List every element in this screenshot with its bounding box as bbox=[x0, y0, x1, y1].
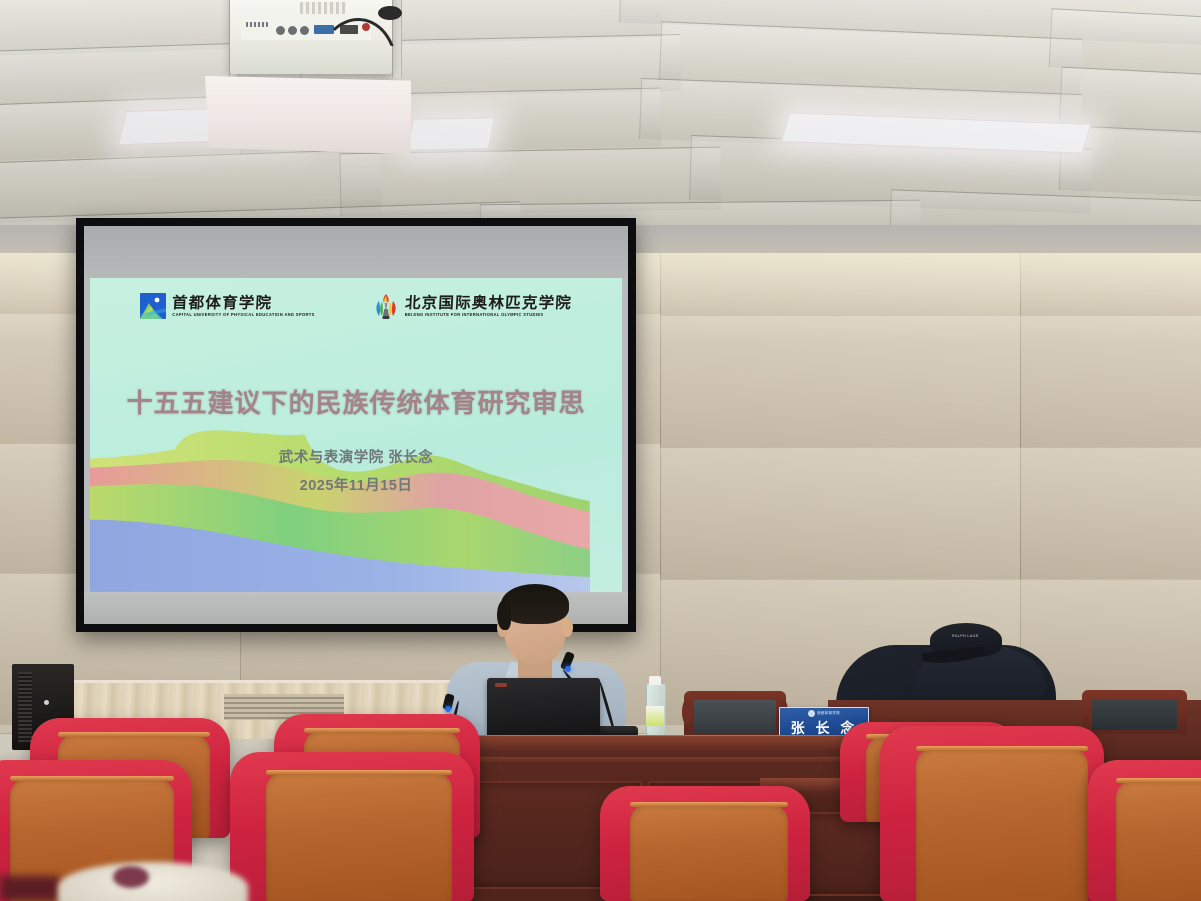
slide-subtitle: 武术与表演学院 张长念 bbox=[90, 446, 622, 467]
chair-backrest-pad bbox=[1092, 699, 1177, 730]
logo-cupes-cn: 首都体育学院 bbox=[172, 295, 315, 311]
thinkpad-laptop[interactable] bbox=[487, 678, 600, 740]
red-auditorium-chair bbox=[1088, 760, 1201, 901]
red-auditorium-chair bbox=[600, 786, 810, 901]
olympic-torch-logo-icon bbox=[373, 292, 399, 320]
nameplate-seal-icon bbox=[808, 710, 815, 717]
red-auditorium-chair bbox=[880, 726, 1104, 901]
nameplate-org: 首都体育学院 bbox=[817, 711, 840, 716]
presentation-slide: 首都体育学院 CAPITAL UNIVERSITY OF PHYSICAL ED… bbox=[90, 278, 622, 592]
logo-biios-cn: 北京国际奥林匹克学院 bbox=[404, 295, 572, 311]
projection-screen: 首都体育学院 CAPITAL UNIVERSITY OF PHYSICAL ED… bbox=[76, 218, 636, 632]
speaker-indicator-icon bbox=[44, 700, 49, 705]
suspended-ceiling bbox=[0, 0, 1201, 232]
bottle-cap bbox=[649, 676, 661, 685]
slide-title: 十五五建议下的民族传统体育研究审思 bbox=[90, 383, 622, 420]
chair-backrest-pad bbox=[694, 700, 776, 734]
logo-biios: 北京国际奥林匹克学院 BEIJING INSTITUTE FOR INTERNA… bbox=[373, 292, 572, 320]
logo-cupes-en: CAPITAL UNIVERSITY OF PHYSICAL EDUCATION… bbox=[172, 313, 314, 317]
projector-light-shade bbox=[205, 76, 411, 154]
slide-date: 2025年11月15日 bbox=[90, 474, 622, 495]
logo-biios-en: BEIJING INSTITUTE FOR INTERNATIONAL OLYM… bbox=[405, 313, 572, 317]
lecture-hall-photo: 首都体育学院 CAPITAL UNIVERSITY OF PHYSICAL ED… bbox=[0, 0, 1201, 901]
presenter-hair bbox=[501, 584, 569, 624]
cap-logo-text: RALPH LAUR bbox=[952, 634, 979, 638]
bottle-label bbox=[646, 706, 664, 726]
presenter-ear bbox=[562, 618, 573, 637]
slide-logo-row: 首都体育学院 CAPITAL UNIVERSITY OF PHYSICAL ED… bbox=[90, 292, 622, 320]
foreground-blur-shadow bbox=[0, 876, 60, 901]
slide-hills-artwork bbox=[90, 416, 590, 592]
logo-cupes: 首都体育学院 CAPITAL UNIVERSITY OF PHYSICAL ED… bbox=[140, 292, 314, 320]
mountain-gradient-logo-icon bbox=[140, 293, 166, 319]
chair-armrest bbox=[682, 699, 692, 725]
screen-blank-top-area bbox=[84, 226, 628, 278]
foreground-hair-bun bbox=[113, 866, 149, 888]
laptop-brand-logo-icon bbox=[495, 683, 507, 687]
red-auditorium-chair bbox=[230, 752, 474, 901]
presenter-hair-side bbox=[497, 600, 511, 630]
